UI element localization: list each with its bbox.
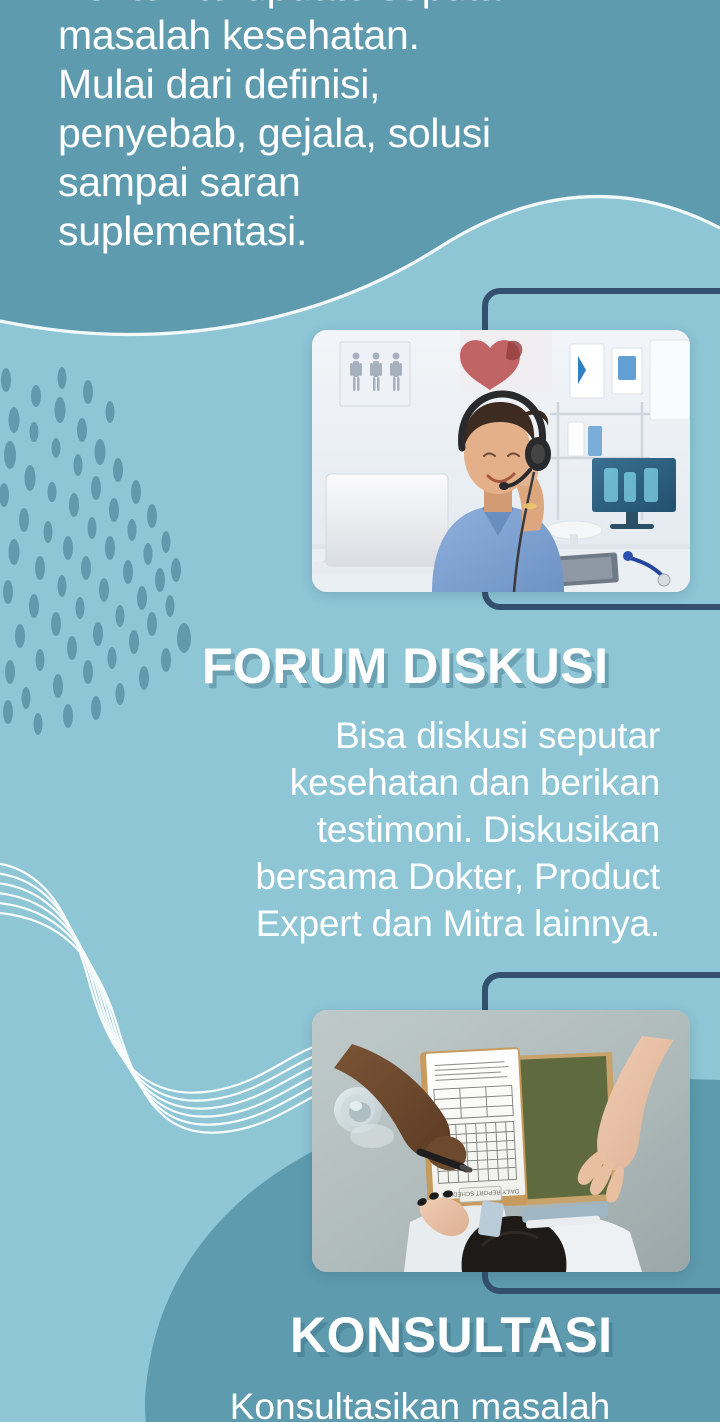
intro-paragraph: Konten terupdate seputar masalah kesehat…	[58, 0, 658, 256]
overhead-consultation-illustration: DAILY REPORT SCHEDULE	[312, 1010, 690, 1272]
forum-section-body: Bisa diskusi seputar kesehatan dan berik…	[160, 712, 660, 947]
konsultasi-section-body: Konsultasikan masalah	[180, 1383, 660, 1422]
forum-section-heading: FORUM DISKUSI	[202, 637, 609, 695]
konsultasi-section-heading: KONSULTASI	[290, 1306, 613, 1364]
konsultasi-photo: DAILY REPORT SCHEDULE	[312, 1010, 690, 1272]
forum-photo	[312, 330, 690, 592]
promo-poster: Konten terupdate seputar masalah kesehat…	[0, 0, 720, 1422]
nurse-headset-illustration	[312, 330, 690, 592]
